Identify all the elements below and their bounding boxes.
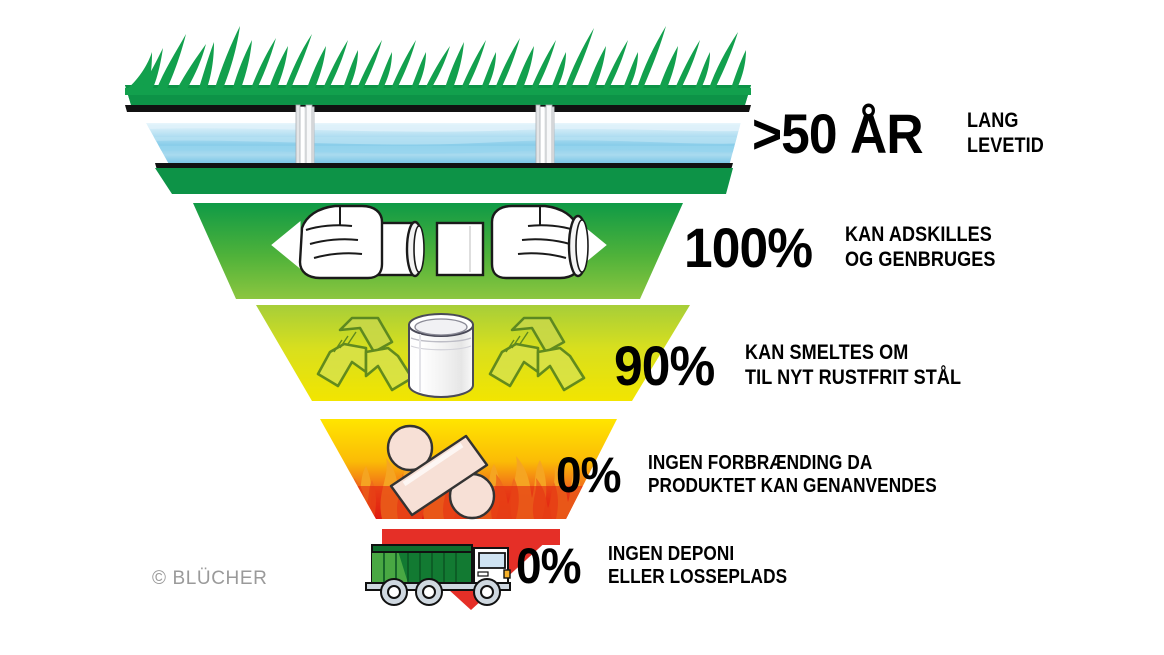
infographic-canvas: >50 ÅR LANG LEVETID 100% KAN ADSKILLES O… <box>0 0 1164 655</box>
row-lifetime: >50 ÅR LANG LEVETID <box>752 108 1057 160</box>
stainless-can-icon <box>409 314 473 397</box>
pipe-coupling-icon <box>296 105 314 169</box>
caption-line: PRODUKTET KAN GENANVENDES <box>648 475 937 498</box>
caption-line: ELLER LOSSEPLADS <box>608 566 787 589</box>
grass-icon <box>125 26 751 95</box>
caption-remelt: KAN SMELTES OM TIL NYT RUSTFRIT STÅL <box>745 341 961 390</box>
metric-landfill: 0% <box>516 543 581 589</box>
caption-line: INGEN FORBRÆNDING DA <box>648 452 937 475</box>
caption-line: OG GENBRUGES <box>845 248 996 272</box>
caption-line: LANG <box>967 109 1044 133</box>
hand-left-icon <box>300 206 382 278</box>
metric-separable: 100% <box>684 222 812 274</box>
caption-line: KAN SMELTES OM <box>745 341 961 365</box>
funnel-layer-separable <box>193 203 683 299</box>
caption-landfill: INGEN DEPONI ELLER LOSSEPLADS <box>608 543 787 589</box>
caption-incineration: INGEN FORBRÆNDING DA PRODUKTET KAN GENAN… <box>648 452 937 498</box>
caption-separable: KAN ADSKILLES OG GENBRUGES <box>845 223 996 272</box>
pipe-right-icon <box>437 223 483 275</box>
row-landfill: 0% INGEN DEPONI ELLER LOSSEPLADS <box>516 543 817 589</box>
caption-lifetime: LANG LEVETID <box>967 109 1044 158</box>
metric-remelt: 90% <box>614 340 714 392</box>
row-incineration: 0% INGEN FORBRÆNDING DA PRODUKTET KAN GE… <box>556 452 984 498</box>
funnel-layer-lifetime <box>120 26 760 194</box>
metric-incineration: 0% <box>556 452 621 498</box>
caption-line: KAN ADSKILLES <box>845 223 996 247</box>
row-remelt: 90% KAN SMELTES OM TIL NYT RUSTFRIT STÅL <box>614 340 996 392</box>
caption-line: INGEN DEPONI <box>608 543 787 566</box>
pipe-coupling-icon <box>536 105 554 169</box>
metric-lifetime: >50 ÅR <box>752 108 923 160</box>
caption-line: TIL NYT RUSTFRIT STÅL <box>745 366 961 390</box>
garbage-truck-icon <box>366 545 510 605</box>
row-separable: 100% KAN ADSKILLES OG GENBRUGES <box>684 222 1020 274</box>
copyright-notice: © BLÜCHER <box>152 568 267 590</box>
caption-line: LEVETID <box>967 134 1044 158</box>
